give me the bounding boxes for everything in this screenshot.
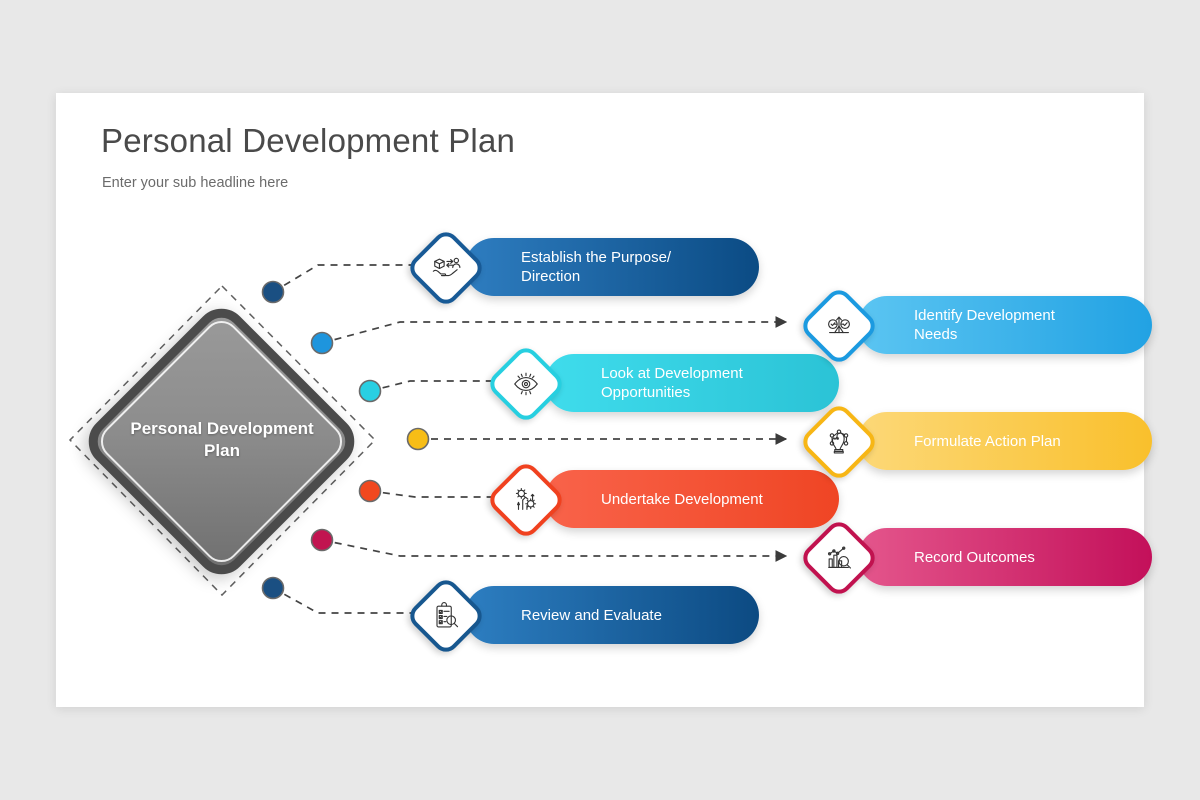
step-label: Establish the Purpose/ Direction [465, 248, 687, 286]
step-pill[interactable]: Undertake Development [545, 470, 839, 528]
step-record-outcomes[interactable]: Record Outcomes [810, 528, 1104, 586]
step-pill[interactable]: Formulate Action Plan [858, 412, 1152, 470]
step-formulate-action-plan[interactable]: Formulate Action Plan [810, 412, 1104, 470]
step-label: Look at Development Opportunities [545, 364, 759, 402]
step-pill[interactable]: Look at Development Opportunities [545, 354, 839, 412]
step-pill[interactable]: Record Outcomes [858, 528, 1152, 586]
page-title: Personal Development Plan [101, 122, 515, 160]
step-label: Formulate Action Plan [858, 432, 1077, 451]
step-look-development-opportunities[interactable]: Look at Development Opportunities [497, 354, 791, 412]
step-pill[interactable]: Identify Development Needs [858, 296, 1152, 354]
step-undertake-development[interactable]: Undertake Development [497, 470, 791, 528]
step-label: Record Outcomes [858, 548, 1051, 567]
page-subtitle: Enter your sub headline here [102, 175, 288, 191]
step-establish-purpose[interactable]: Establish the Purpose/ Direction [417, 238, 711, 296]
step-pill[interactable]: Review and Evaluate [465, 586, 759, 644]
step-label: Undertake Development [545, 490, 779, 509]
step-label: Identify Development Needs [858, 306, 1071, 344]
step-identify-development-needs[interactable]: Identify Development Needs [810, 296, 1104, 354]
step-review-evaluate[interactable]: Review and Evaluate [417, 586, 711, 644]
step-label: Review and Evaluate [465, 606, 678, 625]
step-pill[interactable]: Establish the Purpose/ Direction [465, 238, 759, 296]
